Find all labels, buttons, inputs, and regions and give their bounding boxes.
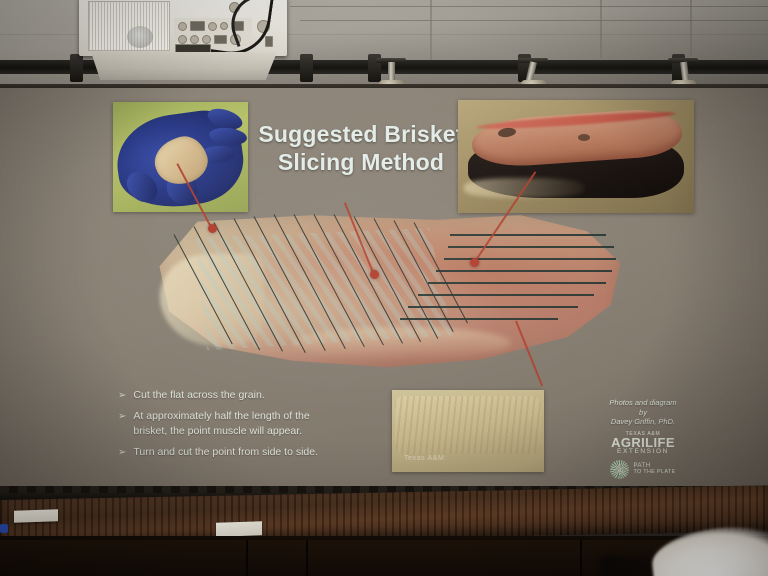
slide-title-line1: Suggested Brisket — [246, 120, 476, 148]
logo-agrilife-main: AGRILIFE — [582, 437, 704, 449]
projector-lens — [127, 26, 153, 48]
projector-brand-label — [155, 68, 157, 73]
projection-screen: Suggested Brisket Slicing Method — [0, 88, 768, 492]
callout-dot-point — [470, 258, 479, 267]
ceiling-projector — [79, 0, 287, 80]
slide-title-line2: Slicing Method — [246, 148, 476, 176]
brisket-diagram — [150, 212, 625, 372]
paper-sheet-left — [14, 509, 58, 523]
arrow-bullet-icon: ➢ — [118, 409, 126, 424]
paper-sheet-center — [216, 521, 262, 537]
texas-am-agrilife-extension-logo: TEXAS A&M AGRILIFE EXTENSION — [582, 432, 704, 456]
bullet-list: ➢ Cut the flat across the grain. ➢ At ap… — [118, 388, 388, 465]
path-to-the-plate-logo: PATH TO THE PLATE — [582, 460, 704, 479]
bullet-item-2: ➢ At approximately half the length of th… — [118, 409, 388, 440]
bullet-text-2-line2: brisket, the point muscle will appear. — [133, 424, 309, 440]
photo-watermark: Texas A&M — [404, 455, 444, 462]
plate-sunburst-icon — [610, 460, 629, 479]
callout-dot-flat — [208, 224, 217, 233]
board-panel-2 — [248, 540, 308, 576]
bullet-item-3: ➢ Turn and cut the point from side to si… — [118, 445, 388, 461]
logo-plate-line2: TO THE PLATE — [633, 469, 675, 476]
arrow-bullet-icon: ➢ — [118, 445, 126, 460]
photo-gloved-hand — [113, 102, 248, 212]
credits-block: Photos and diagram by Davey Griffin, PhD… — [582, 398, 704, 479]
bullet-item-1: ➢ Cut the flat across the grain. — [118, 388, 388, 404]
logo-agrilife-sub: EXTENSION — [582, 449, 704, 456]
arrow-bullet-icon: ➢ — [118, 388, 126, 403]
credit-line-1: Photos and diagram — [582, 398, 704, 408]
lecture-room-photo: Suggested Brisket Slicing Method — [0, 0, 768, 576]
board-panel-1 — [0, 540, 248, 576]
photo-smoked-brisket — [458, 100, 694, 213]
blue-object-on-ledge — [0, 524, 8, 533]
callout-dot-middle — [370, 270, 379, 279]
slide-title: Suggested Brisket Slicing Method — [246, 120, 476, 176]
board-panel-3 — [308, 540, 582, 576]
bullet-text-2: At approximately half the length of the — [133, 410, 309, 422]
bullet-text-1: Cut the flat across the grain. — [133, 388, 264, 404]
credit-line-3: Davey Griffin, PhD. — [582, 417, 704, 427]
bullet-text-3: Turn and cut the point from side to side… — [133, 445, 318, 461]
photo-sliced-brisket-surface: Texas A&M — [392, 390, 544, 472]
credit-line-2: by — [582, 408, 704, 418]
